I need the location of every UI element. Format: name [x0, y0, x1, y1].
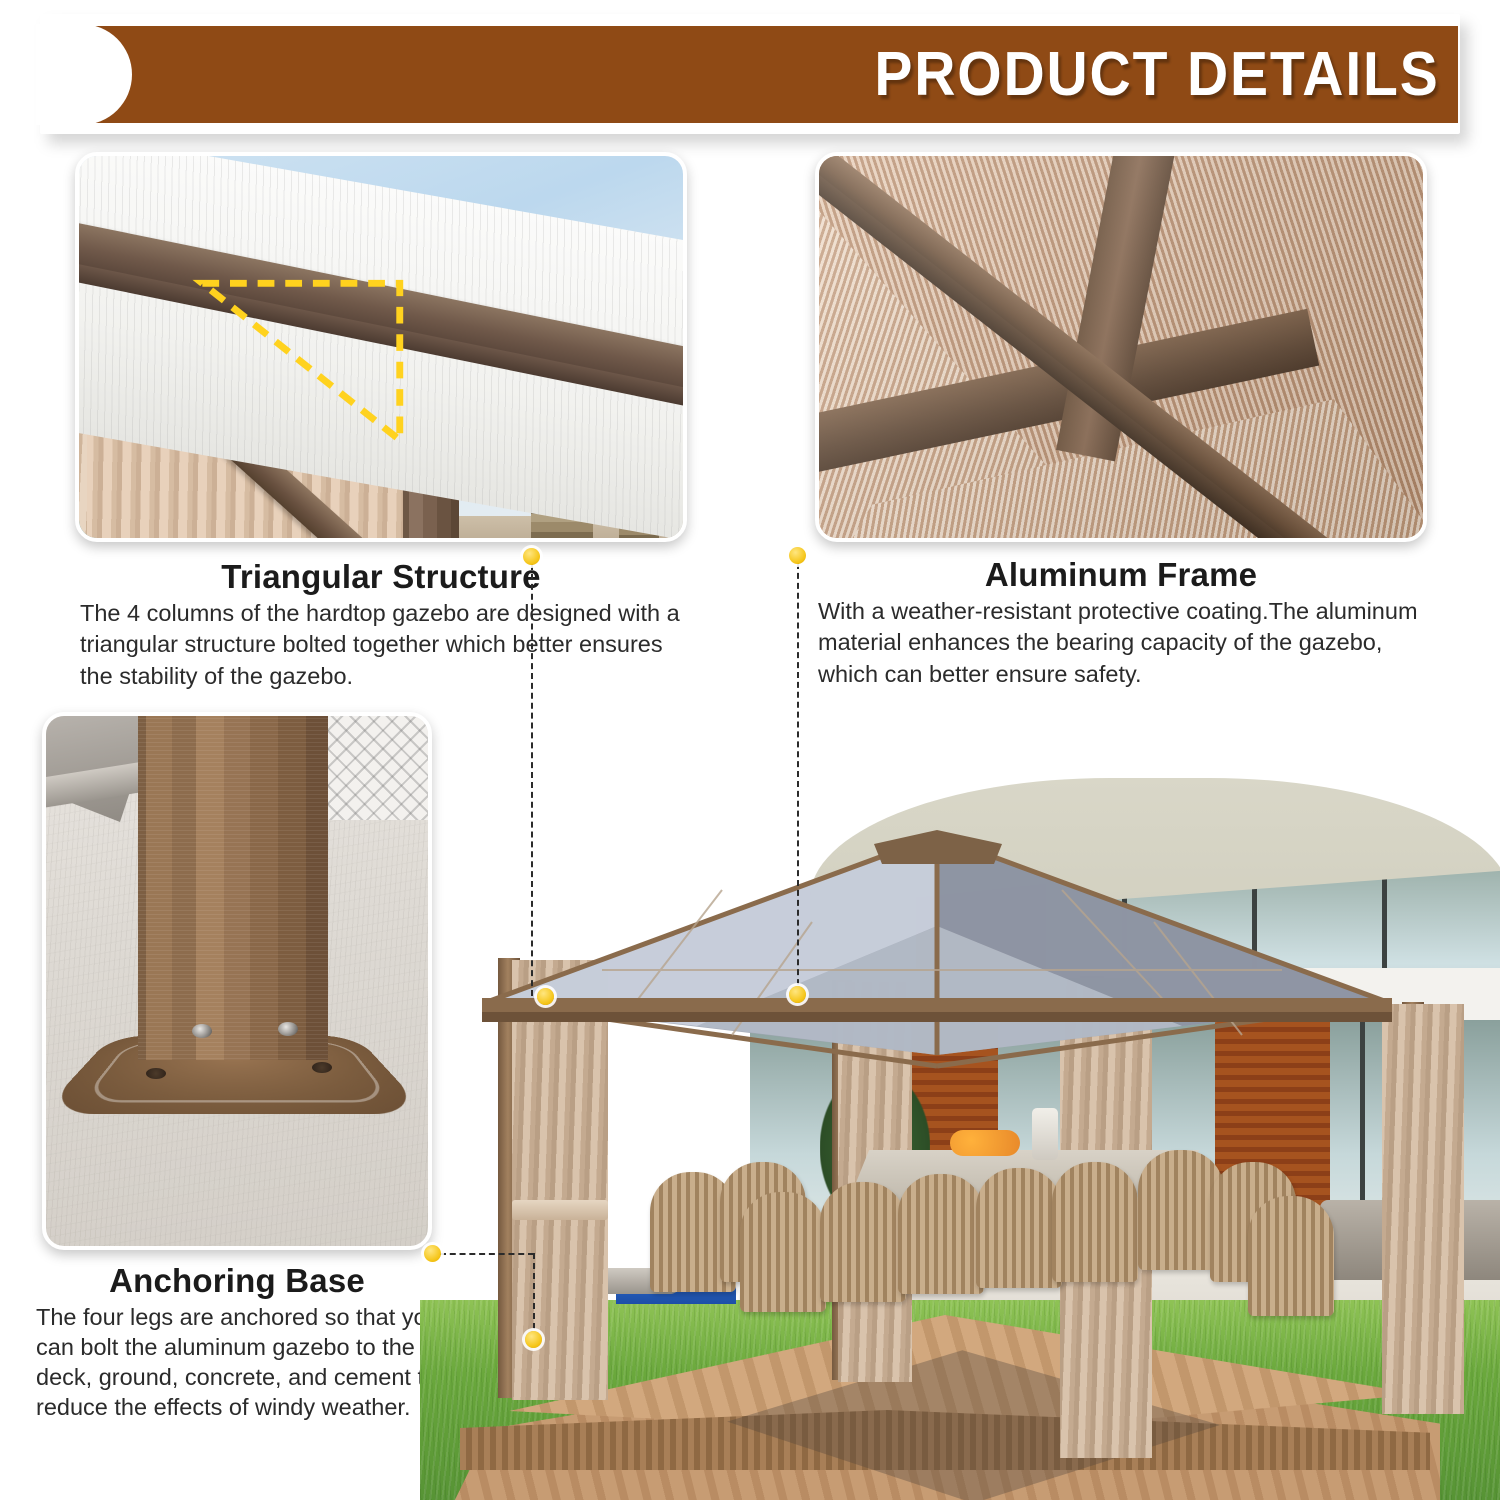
photo-gloss-overlay [819, 156, 1423, 538]
callout-dot-aluminum-top [789, 547, 806, 564]
banner-notch-shape [36, 24, 132, 125]
gazebo-hardtop-roof [482, 830, 1392, 1130]
anchor-bolt-left [192, 1024, 212, 1038]
callout-dot-triangular-target [537, 988, 554, 1005]
photo-card-anchoring-base [42, 712, 432, 1250]
table-vase [1032, 1108, 1058, 1160]
section-body-anchoring-base: The four legs are anchored so that you c… [36, 1302, 446, 1422]
anchor-hole-right [312, 1062, 332, 1073]
section-body-aluminum-frame: With a weather-resistant protective coat… [818, 596, 1428, 690]
page-header-banner: PRODUCT DETAILS [40, 14, 1460, 138]
section-title-aluminum-frame: Aluminum Frame [815, 556, 1427, 594]
photo-card-aluminum-frame [815, 152, 1427, 542]
callout-dot-anchoring-source [424, 1245, 441, 1262]
callout-dot-anchoring-target [525, 1331, 542, 1348]
dining-chair [1052, 1162, 1138, 1282]
fruit-bowl [950, 1130, 1020, 1156]
section-title-anchoring-base: Anchoring Base [42, 1262, 432, 1300]
photo-card-triangular-structure [75, 152, 687, 542]
curtain-tieback-front-left [512, 1200, 608, 1220]
gazebo-curtain-right [1382, 1004, 1464, 1414]
photo-aluminum-frame [819, 156, 1423, 538]
callout-dot-triangular-top [523, 548, 540, 565]
dining-chair [976, 1168, 1062, 1288]
photo-anchoring-base [46, 716, 428, 1246]
anchor-bolt-right [278, 1022, 298, 1036]
callout-line-triangular-structure [531, 564, 533, 996]
dining-chair [898, 1174, 984, 1294]
patterned-lantern [324, 716, 428, 820]
banner-bar: PRODUCT DETAILS [82, 26, 1458, 123]
dining-chair [740, 1192, 826, 1312]
section-body-triangular-structure: The 4 columns of the hardtop gazebo are … [80, 598, 680, 692]
callout-line-aluminum-frame [797, 563, 799, 995]
photo-triangular-structure [79, 156, 683, 538]
section-title-triangular-structure: Triangular Structure [75, 558, 687, 596]
gazebo-column [138, 716, 328, 1060]
dining-chair [1248, 1196, 1334, 1316]
triangle-highlight-overlay [79, 156, 683, 538]
callout-line-anchoring-vertical [533, 1253, 535, 1339]
page-title: PRODUCT DETAILS [192, 26, 1458, 123]
dining-chair [820, 1182, 906, 1302]
column-flute-texture [138, 716, 328, 1060]
hero-gazebo-scene [420, 770, 1500, 1500]
anchor-hole-left [146, 1068, 166, 1079]
callout-dot-aluminum-target [789, 986, 806, 1003]
callout-line-anchoring-horizontal [440, 1253, 534, 1255]
